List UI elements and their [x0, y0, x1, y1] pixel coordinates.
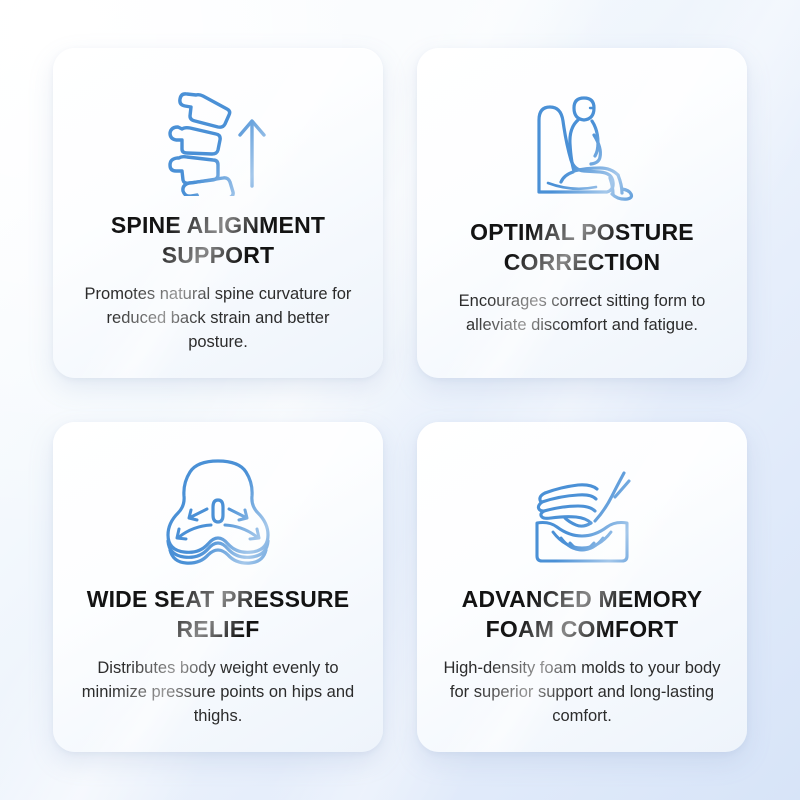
- spine-alignment-icon: [164, 78, 272, 197]
- feature-card-spine-alignment[interactable]: SPINE ALIGNMENT SUPPORT Promotes natural…: [53, 48, 383, 378]
- feature-card-wide-seat[interactable]: WIDE SEAT PRESSURE RELIEF Distributes bo…: [53, 422, 383, 752]
- card-title: ADVANCED MEMORY FOAM COMFORT: [439, 585, 725, 645]
- card-title: SPINE ALIGNMENT SUPPORT: [75, 211, 361, 271]
- feature-card-grid: SPINE ALIGNMENT SUPPORT Promotes natural…: [53, 48, 747, 752]
- wide-seat-cushion-icon: [155, 452, 281, 571]
- card-description: Promotes natural spine curvature for red…: [75, 282, 361, 354]
- hand-pressing-foam-icon: [517, 452, 647, 571]
- card-description: Encourages correct sitting form to allev…: [439, 289, 725, 337]
- feature-card-memory-foam[interactable]: ADVANCED MEMORY FOAM COMFORT High-densit…: [417, 422, 747, 752]
- card-title: WIDE SEAT PRESSURE RELIEF: [75, 585, 361, 645]
- feature-card-posture-correction[interactable]: OPTIMAL POSTURE CORRECTION Encourages co…: [417, 48, 747, 378]
- card-description: High-density foam molds to your body for…: [439, 656, 725, 728]
- card-title: OPTIMAL POSTURE CORRECTION: [439, 218, 725, 278]
- card-description: Distributes body weight evenly to minimi…: [75, 656, 361, 728]
- seated-posture-icon: [518, 78, 646, 204]
